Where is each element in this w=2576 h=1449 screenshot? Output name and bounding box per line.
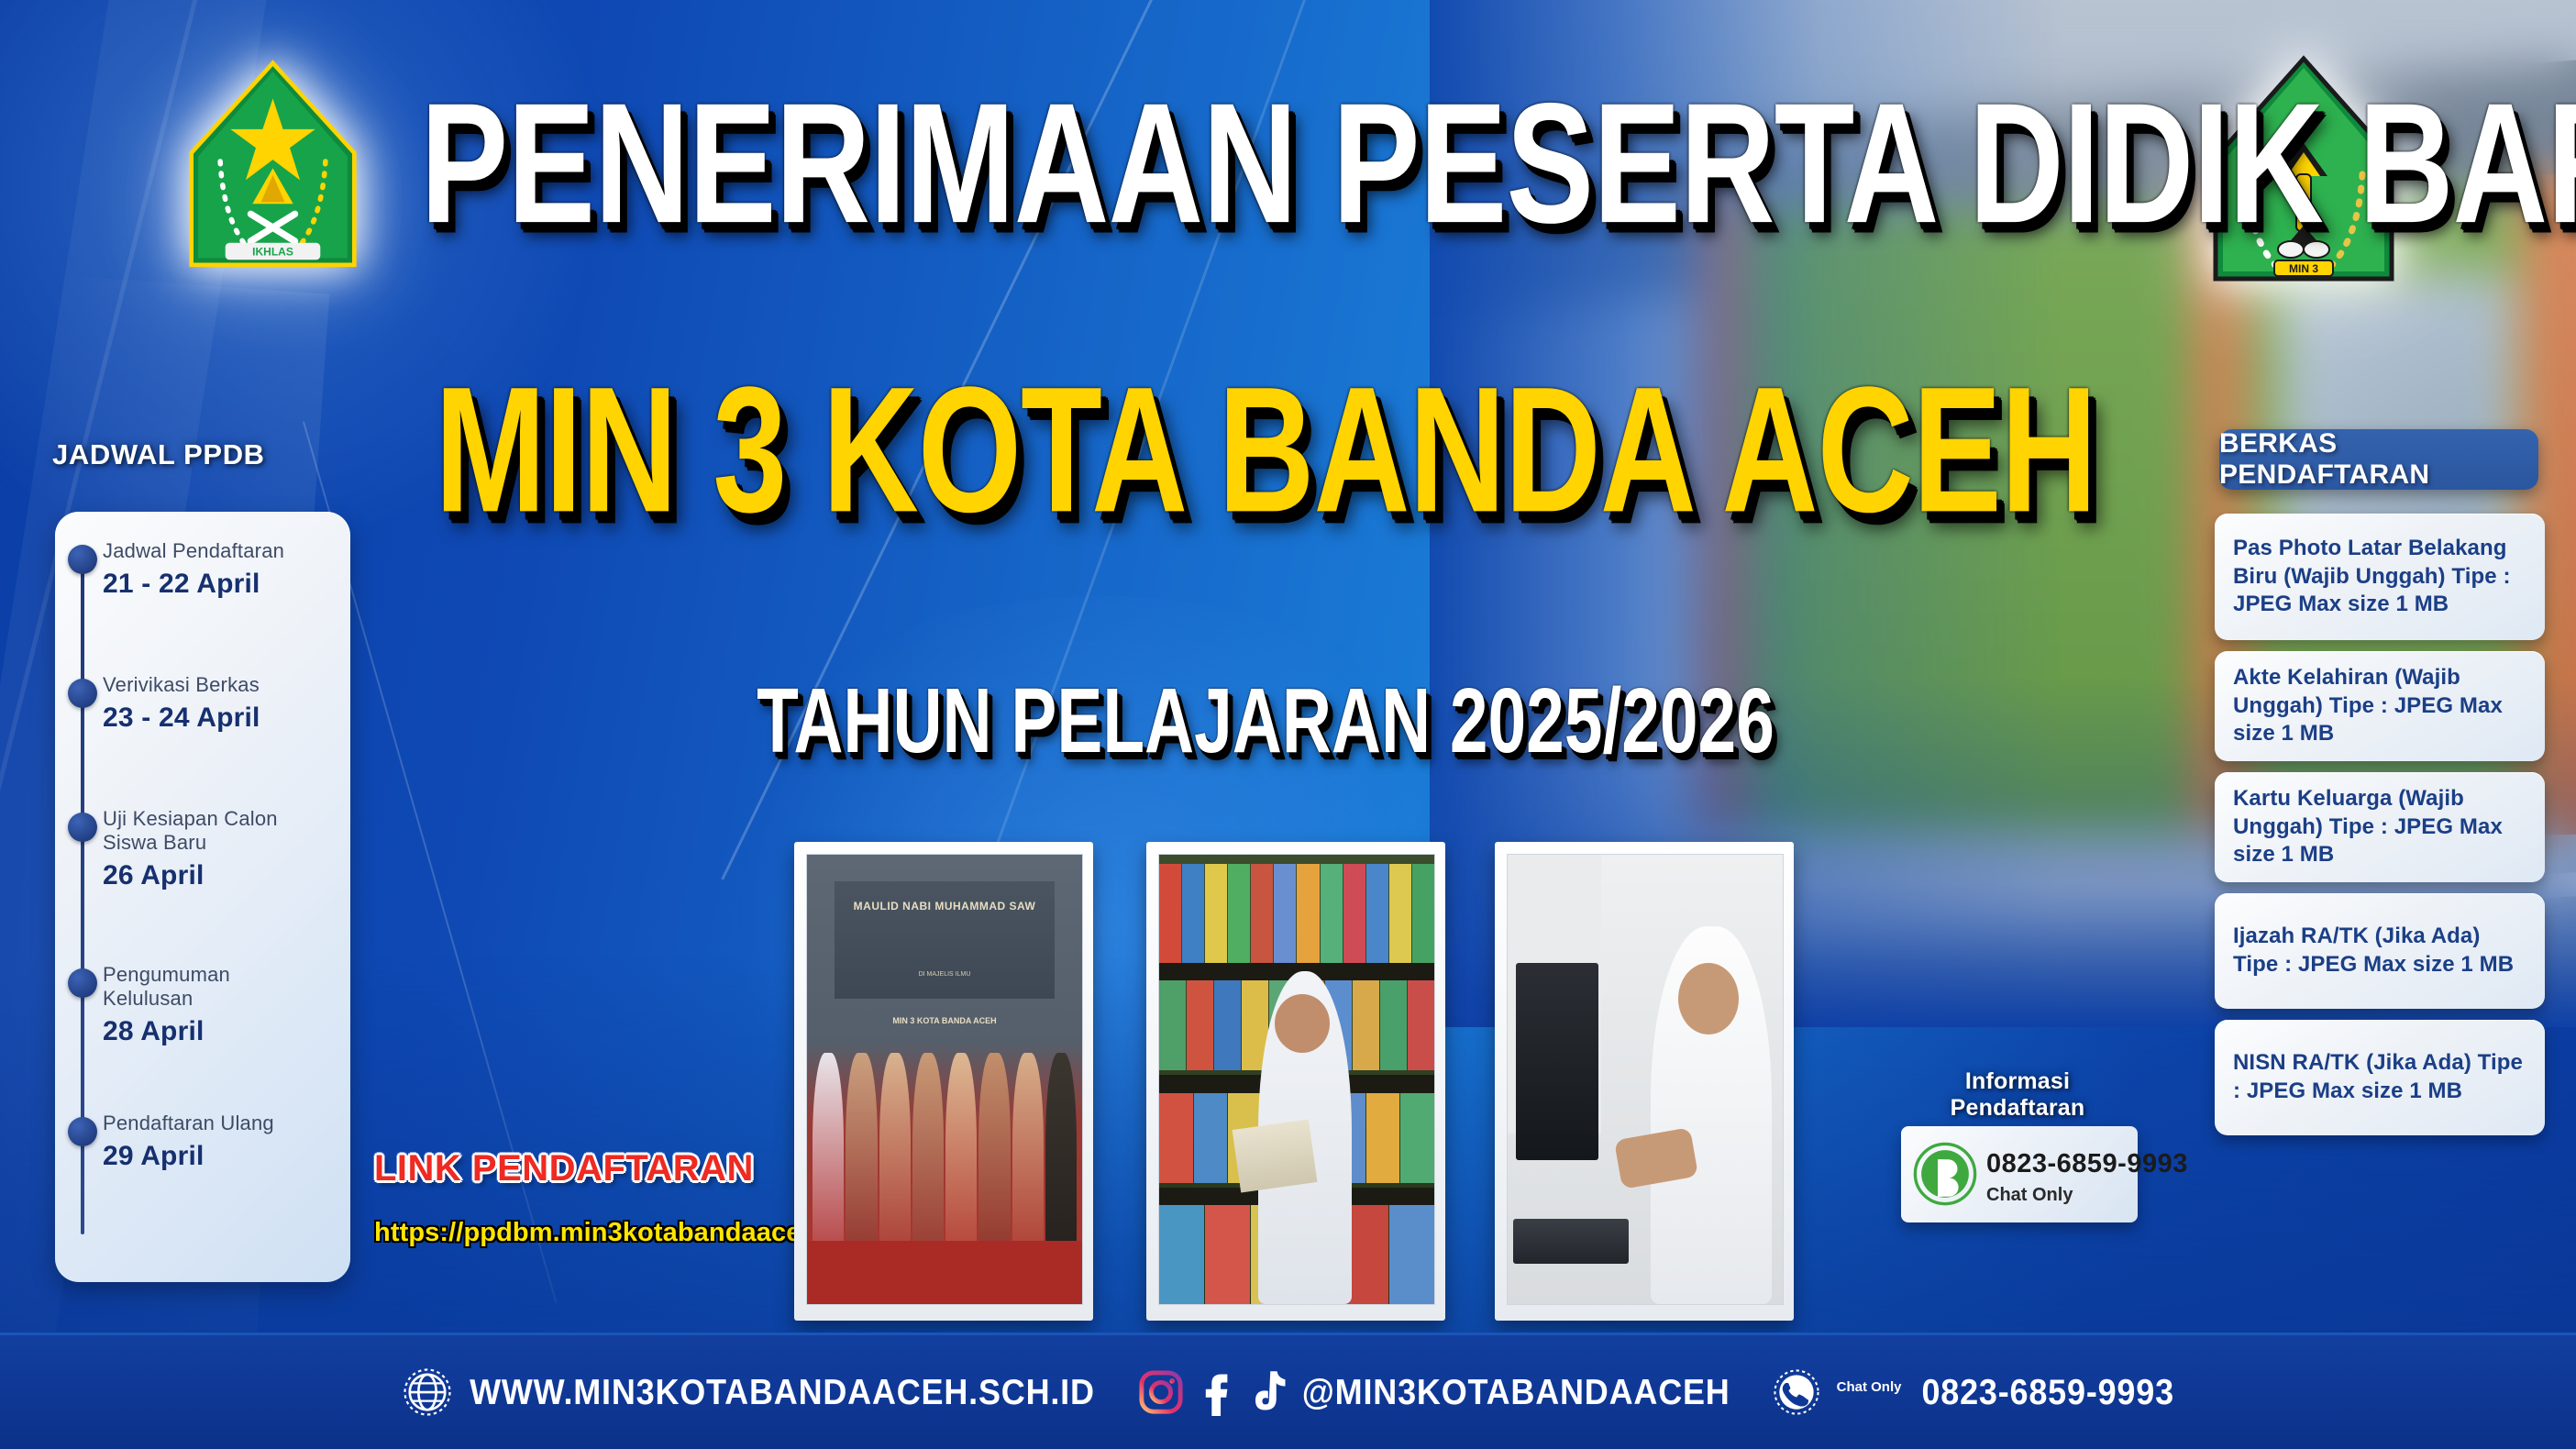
footer-social-handle: @MIN3KOTABANDAACEH [1302,1371,1730,1412]
schedule-item-date: 26 April [103,860,310,891]
schedule-item-3: Uji Kesiapan Calon Siswa Baru 26 April [103,807,310,891]
schedule-heading: JADWAL PPDB [52,438,265,471]
info-phone-number: 0823-6859-9993 [1986,1149,2188,1179]
schedule-item-1: Jadwal Pendaftaran 21 - 22 April [103,539,323,600]
schedule-item-label: Pendaftaran Ulang [103,1112,286,1135]
whatsapp-icon [1773,1368,1820,1416]
page-title: PENERIMAAN PESERTA DIDIK BARU [421,66,2111,262]
berkas-heading-label: BERKAS PENDAFTARAN [2219,428,2538,491]
schedule-item-date: 29 April [103,1141,286,1172]
berkas-list: Pas Photo Latar Belakang Biru (Wajib Ung… [2215,514,2545,1146]
schedule-item-5: Pendaftaran Ulang 29 April [103,1112,286,1172]
schedule-item-label: Uji Kesiapan Calon Siswa Baru [103,807,310,855]
schedule-item-date: 21 - 22 April [103,569,323,600]
info-heading: Informasi Pendaftaran [1903,1068,2132,1122]
schedule-item-label: Verivikasi Berkas [103,673,323,697]
footer-chat-note: Chat Only [1837,1380,1902,1394]
footer-website[interactable]: WWW.MIN3KOTABANDAACEH.SCH.ID [402,1366,1095,1418]
berkas-item: Akte Kelahiran (Wajib Unggah) Tipe : JPE… [2215,651,2545,761]
berkas-item-text: Kartu Keluarga (Wajib Unggah) Tipe : JPE… [2233,785,2526,869]
facebook-icon [1201,1368,1233,1416]
schedule-item-label: Pengumuman Kelulusan [103,963,286,1011]
kemenag-logo: IKHLAS [188,57,358,300]
schedule-item-label: Jadwal Pendaftaran [103,539,323,563]
globe-icon [402,1366,453,1418]
timeline-dot [68,679,97,708]
school-name-title: MIN 3 KOTA BANDA ACEH [421,347,2111,553]
timeline-dot [68,545,97,574]
berkas-heading: BERKAS PENDAFTARAN [2219,429,2538,490]
photo-caption: MIN 3 KOTA BANDA ACEH [807,1016,1082,1025]
berkas-item: NISN RA/TK (Jika Ada) Tipe : JPEG Max si… [2215,1020,2545,1135]
photo-maulid-nabi: MAULID NABI MUHAMMAD SAW DI MAJELIS ILMU… [794,842,1093,1321]
berkas-item-text: NISN RA/TK (Jika Ada) Tipe : JPEG Max si… [2233,1049,2526,1105]
footer-whatsapp[interactable]: Chat Only 0823-6859-9993 [1773,1368,2174,1416]
academic-year: TAHUN PELAJARAN 2025/2026 [429,668,2102,774]
photo-caption: DI MAJELIS ILMU [807,971,1082,978]
footer-social[interactable]: @MIN3KOTABANDAACEH [1137,1368,1730,1416]
footer-website-label: WWW.MIN3KOTABANDAACEH.SCH.ID [470,1371,1095,1412]
svg-text:MIN 3: MIN 3 [2289,262,2318,275]
berkas-item: Kartu Keluarga (Wajib Unggah) Tipe : JPE… [2215,772,2545,882]
berkas-item-text: Akte Kelahiran (Wajib Unggah) Tipe : JPE… [2233,664,2526,748]
svg-text:IKHLAS: IKHLAS [252,246,293,259]
ppdb-banner: IKHLAS MIN 3 PENERIMAAN PESERTA DIDIK BA… [0,0,2576,1449]
schedule-item-2: Verivikasi Berkas 23 - 24 April [103,673,323,734]
berkas-item-text: Ijazah RA/TK (Jika Ada) Tipe : JPEG Max … [2233,923,2526,979]
instagram-icon [1137,1368,1185,1416]
timeline-dot [68,968,97,998]
photo-caption: MAULID NABI MUHAMMAD SAW [807,900,1082,913]
timeline-dot [68,1117,97,1146]
berkas-item: Pas Photo Latar Belakang Biru (Wajib Ung… [2215,514,2545,640]
photo-library-reading [1146,842,1445,1321]
schedule-item-date: 23 - 24 April [103,702,323,734]
registration-link-title: LINK PENDAFTARAN [374,1148,754,1189]
berkas-item-text: Pas Photo Latar Belakang Biru (Wajib Ung… [2233,535,2526,619]
schedule-item-date: 28 April [103,1016,286,1047]
tiktok-icon [1249,1368,1286,1416]
info-chat-note: Chat Only [1986,1185,2073,1206]
schedule-item-4: Pengumuman Kelulusan 28 April [103,963,286,1047]
timeline-dot [68,813,97,842]
footer-whatsapp-number: 0823-6859-9993 [1921,1371,2173,1412]
footer-bar: WWW.MIN3KOTABANDAACEH.SCH.ID [0,1333,2576,1449]
photo-computer-lab [1495,842,1794,1321]
berkas-item: Ijazah RA/TK (Jika Ada) Tipe : JPEG Max … [2215,893,2545,1009]
whatsapp-icon [1912,1141,1978,1207]
